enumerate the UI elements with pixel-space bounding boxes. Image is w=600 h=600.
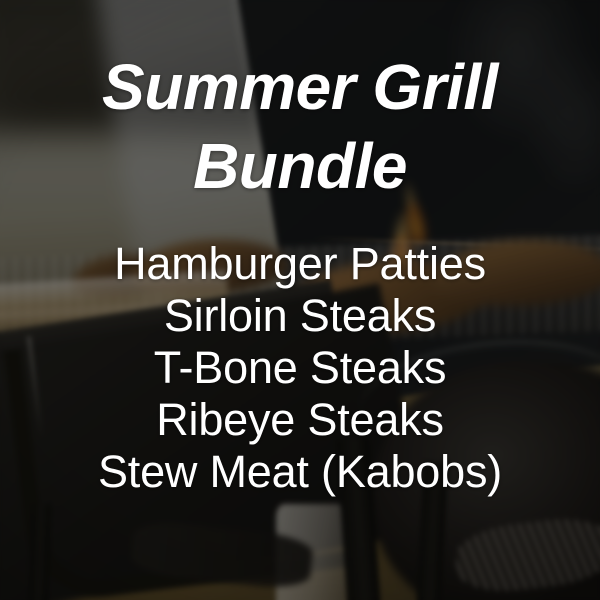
list-item: Sirloin Steaks bbox=[98, 290, 502, 342]
bundle-title: Summer Grill Bundle bbox=[88, 48, 512, 206]
list-item: Ribeye Steaks bbox=[98, 394, 502, 446]
list-item: Stew Meat (Kabobs) bbox=[98, 446, 502, 498]
promo-card: Summer Grill Bundle Hamburger Patties Si… bbox=[0, 0, 600, 600]
card-content: Summer Grill Bundle Hamburger Patties Si… bbox=[0, 0, 600, 600]
list-item: Hamburger Patties bbox=[98, 238, 502, 290]
bundle-item-list: Hamburger Patties Sirloin Steaks T-Bone … bbox=[98, 238, 502, 498]
list-item: T-Bone Steaks bbox=[98, 342, 502, 394]
